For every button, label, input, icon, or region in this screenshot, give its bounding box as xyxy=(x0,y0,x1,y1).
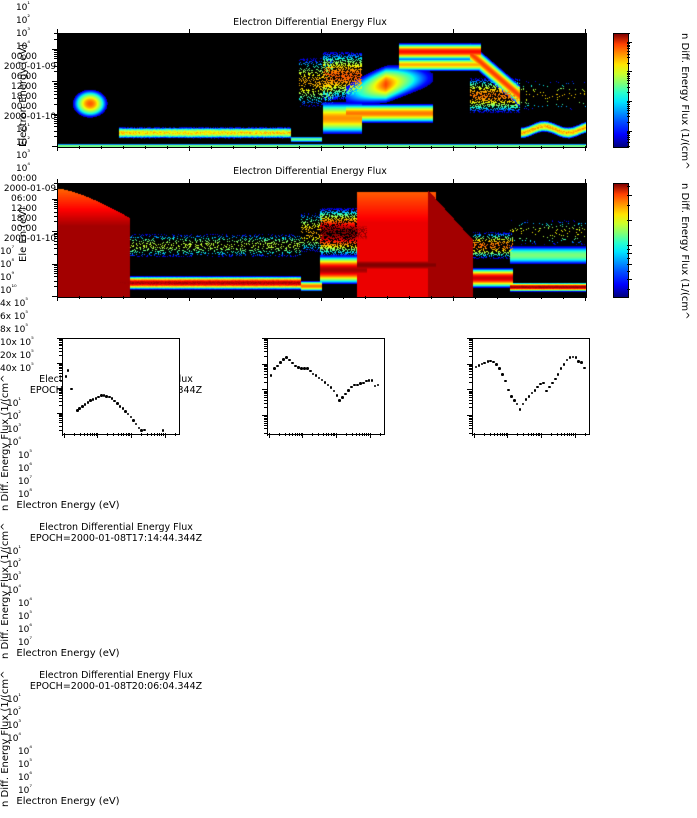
spectrum-3-xminor xyxy=(528,433,529,436)
panel2-cbar-minor xyxy=(627,253,630,254)
panel1-yminor xyxy=(54,123,57,124)
spectrum-2-yminor xyxy=(264,365,267,366)
data-point xyxy=(291,362,294,365)
spectrum-1-yminor xyxy=(59,415,62,416)
spectrum-1-xminor xyxy=(87,433,88,436)
panel1-xminor xyxy=(321,146,322,149)
spectrum-2-xminor xyxy=(368,433,369,436)
panel1-cbar-minor xyxy=(627,102,630,103)
panel1-cbar-minor xyxy=(627,48,630,49)
spectrum-3-yminor xyxy=(469,400,472,401)
panel1-yminor xyxy=(54,54,57,55)
panel2-xminor xyxy=(541,296,542,299)
spectrum-3-yminor xyxy=(469,374,472,375)
spectrum-3-yminor xyxy=(469,371,472,372)
data-point xyxy=(583,367,586,370)
panel2-yminor xyxy=(54,189,57,190)
panel1-cbar-minor xyxy=(627,92,630,93)
panel2-ylabel: Ele En (eV) xyxy=(18,207,29,262)
data-point xyxy=(495,363,498,366)
panel2-cbar-minor xyxy=(627,186,630,187)
spectrum-1-yminor xyxy=(59,389,62,390)
data-point xyxy=(270,374,273,377)
panel2-yminor xyxy=(54,216,57,217)
spectrum-2-title: Electron Differential Energy Flux xyxy=(0,522,232,533)
panel1-cbar-minor xyxy=(627,78,630,79)
spectrum-2-xminor xyxy=(323,433,324,436)
panel2-xminor xyxy=(233,296,234,299)
spectrum-3-xtick xyxy=(541,433,542,438)
panel1-cbar-minor xyxy=(627,106,630,107)
spectrum-3-xminor xyxy=(517,433,518,436)
spectrum-1-yminor xyxy=(59,339,62,340)
panel1-yminor xyxy=(54,58,57,59)
panel2-xminor xyxy=(409,296,410,299)
spectrum-3-yminor xyxy=(469,377,472,378)
panel1-cbar-minor xyxy=(627,122,630,123)
spectrum-2-yminor xyxy=(264,393,267,394)
spectrum-2-yminor xyxy=(264,395,267,396)
data-point xyxy=(519,408,522,411)
panel1-xminor xyxy=(123,146,124,149)
spectrum-1-yminor xyxy=(59,392,62,393)
panel2-xminor xyxy=(255,296,256,299)
spectrum-2-yminor xyxy=(264,416,267,417)
panel1-yminor xyxy=(54,117,57,118)
data-point xyxy=(135,423,138,426)
data-point xyxy=(560,367,563,370)
panel1-colorbar-label: n Diff. Energy Flux (1/(cm^ xyxy=(679,33,690,170)
data-point xyxy=(513,399,516,402)
spectrum-2-plot-area[interactable] xyxy=(267,338,385,435)
spectrum-1-xminor xyxy=(151,433,152,436)
spectrum-2-xminor xyxy=(346,433,347,436)
panel1-xminor xyxy=(255,146,256,149)
panel2-cbar-minor xyxy=(627,245,630,246)
spectrum-1-xminor xyxy=(154,433,155,436)
panel1-xminor xyxy=(585,146,586,149)
panel1-cbar-minor xyxy=(627,76,630,77)
spectrum-2-xminor xyxy=(328,433,329,436)
data-point xyxy=(330,386,333,389)
spectrum-1-xminor xyxy=(126,433,127,436)
spectrum-2-yminor xyxy=(264,351,267,352)
spectrum-3-yminor xyxy=(469,342,472,343)
data-point xyxy=(504,380,507,383)
panel1-xminor xyxy=(167,146,168,149)
panel1-xminor xyxy=(211,146,212,149)
data-point xyxy=(132,419,135,422)
panel2-xtick-top xyxy=(189,179,190,183)
data-point xyxy=(318,377,321,380)
panel1-cbar-minor xyxy=(627,108,630,109)
data-point xyxy=(548,386,551,389)
panel1-cbar-minor xyxy=(627,57,630,58)
spectrum-3-xminor xyxy=(490,433,491,436)
panel2-cbar-minor xyxy=(627,249,630,250)
spectrum-3-xminor xyxy=(494,433,495,436)
spectrum-1-xminor xyxy=(159,433,160,436)
spectrum-2-xminor xyxy=(326,433,327,436)
panel1-cbar-minor xyxy=(627,45,630,46)
spectrum-2-yminor xyxy=(264,369,267,370)
spectrum-1-yminor xyxy=(59,368,62,369)
spectrum-2-xminor xyxy=(267,433,268,436)
spectrum-1-yminor xyxy=(59,426,62,427)
data-point xyxy=(563,363,566,366)
panel2-xtick-top xyxy=(585,179,586,183)
spectrum-1-yminor xyxy=(59,345,62,346)
panel1-cbar-minor xyxy=(627,104,630,105)
spectrum-2-xminor xyxy=(285,433,286,436)
spectrum-2-yminor xyxy=(264,418,267,419)
panel2-xminor xyxy=(585,296,586,299)
panel1-yminor xyxy=(54,62,57,63)
panel2-xminor xyxy=(343,296,344,299)
spectrum-3-yminor xyxy=(469,369,472,370)
panel2-yminor xyxy=(54,233,57,234)
spectrum-1-xminor xyxy=(107,433,108,436)
data-point xyxy=(475,366,478,369)
spectrum-3-yminor xyxy=(469,346,472,347)
panel1-xtick-top xyxy=(321,29,322,33)
panel2-title: Electron Differential Energy Flux xyxy=(0,166,620,177)
spectrum-1-xminor xyxy=(92,433,93,436)
spectrum-2-yminor xyxy=(264,340,267,341)
panel2-xminor xyxy=(365,296,366,299)
spectrum-1-xminor xyxy=(147,433,148,436)
spectrum-1-xminor xyxy=(90,433,91,436)
spectrum-1-yminor xyxy=(59,395,62,396)
data-point xyxy=(116,402,119,405)
spectrum-3-yminor xyxy=(469,395,472,396)
spectrum-2-xtick xyxy=(336,433,337,438)
spectrum-3-yminor xyxy=(469,356,472,357)
spectrum-3-yminor xyxy=(469,425,472,426)
panel2-xminor xyxy=(563,296,564,299)
panel1-yminor xyxy=(54,126,57,127)
spectrum-3-title: Electron Differential Energy Flux xyxy=(0,670,232,681)
spectrum-3-xlabel: Electron Energy (eV) xyxy=(0,796,136,807)
panel2-yminor xyxy=(54,244,57,245)
spectrum-2-yminor xyxy=(264,403,267,404)
data-point xyxy=(321,379,324,382)
panel1-yminor xyxy=(54,121,57,122)
panel1-cbar-minor xyxy=(627,43,630,44)
data-point xyxy=(545,390,548,393)
data-point xyxy=(542,382,545,385)
spectrum-3-yminor xyxy=(469,397,472,398)
spectrum-3-yminor xyxy=(469,421,472,422)
panel2-yminor xyxy=(54,208,57,209)
panel2-xminor xyxy=(431,296,432,299)
spectrum-1-yminor xyxy=(59,370,62,371)
panel1-yminor xyxy=(54,56,57,57)
panel2-yminor xyxy=(54,202,57,203)
panel1-cbar-minor xyxy=(627,146,630,147)
spectrum-2-yminor xyxy=(264,419,267,420)
spectrum-3-xminor xyxy=(564,433,565,436)
panel1-cbar-minor xyxy=(627,63,630,64)
panel2-yminor xyxy=(54,236,57,237)
spectrum-1-xminor xyxy=(129,433,130,436)
spectrum-2-xlabel: Electron Energy (eV) xyxy=(0,648,136,659)
spectrum-1-xminor xyxy=(96,433,97,436)
panel2-xtick-top xyxy=(57,179,58,183)
data-point xyxy=(569,356,572,359)
panel2-xminor xyxy=(211,296,212,299)
panel1-xminor xyxy=(299,146,300,149)
spectrum-2-yminor xyxy=(264,377,267,378)
spectrum-3-yminor xyxy=(469,340,472,341)
data-point xyxy=(84,403,87,406)
spectrum-1-xtick xyxy=(131,433,132,438)
panel1-cbar-minor xyxy=(627,73,630,74)
panel2-yminor xyxy=(54,234,57,235)
data-point xyxy=(127,413,130,416)
spectrum-3-yminor xyxy=(469,428,472,429)
spectrum-3-xminor xyxy=(523,433,524,436)
panel1-xtick-top xyxy=(585,29,586,33)
panel1-xtick-top xyxy=(189,29,190,33)
panel2-yminor xyxy=(54,269,57,270)
panel1-xminor xyxy=(475,146,476,149)
panel1-cbar-minor xyxy=(627,74,630,75)
data-point xyxy=(551,382,554,385)
spectrum-3-xminor xyxy=(551,433,552,436)
spectrum-3-yminor xyxy=(469,392,472,393)
panel2-xminor xyxy=(299,296,300,299)
panel2-yminor xyxy=(54,241,57,242)
panel1-cbar-minor xyxy=(627,137,630,138)
panel2-yminor xyxy=(54,276,57,277)
data-point xyxy=(279,361,282,364)
panel2-yminor xyxy=(54,273,57,274)
spectrum-2-xminor xyxy=(289,433,290,436)
data-point xyxy=(327,384,330,387)
spectrum-3-yminor xyxy=(469,423,472,424)
spectrum-2-xtick xyxy=(269,433,270,438)
spectrum-1-yminor xyxy=(59,418,62,419)
spectrum-3-xminor xyxy=(472,433,473,436)
panel1-xminor xyxy=(431,146,432,149)
spectrum-2-yminor xyxy=(264,421,267,422)
spectrum-1-xminor xyxy=(121,433,122,436)
panel2-xminor xyxy=(167,296,168,299)
spectrum-2-yminor xyxy=(264,433,267,434)
spectrum-3-ylabel: n Diff. Energy Flux (1/(cm^ xyxy=(0,110,11,807)
spectrum-1-yminor xyxy=(59,376,62,377)
data-point xyxy=(525,398,528,401)
panel1-yminor xyxy=(54,86,57,87)
panel2-xminor xyxy=(453,296,454,299)
panel1-cbar-minor xyxy=(627,46,630,47)
panel2-xminor xyxy=(387,296,388,299)
spectrum-2-xminor xyxy=(380,433,381,436)
panel2-xminor xyxy=(79,296,80,299)
spectrum-3-yminor xyxy=(469,339,472,340)
panel1-yminor xyxy=(54,115,57,116)
panel1-cbar-minor xyxy=(627,54,630,55)
data-point xyxy=(333,390,336,393)
spectrum-1-yminor xyxy=(59,416,62,417)
spectrum-3-yminor xyxy=(469,416,472,417)
spectrum-2-yminor xyxy=(264,428,267,429)
spectrum-2-xminor xyxy=(297,433,298,436)
panel1-yminor xyxy=(54,104,57,105)
spectrum-2-xminor xyxy=(301,433,302,436)
data-point xyxy=(522,403,525,406)
spectrum-3-plot-area[interactable] xyxy=(472,338,590,435)
panel2-cbar-minor xyxy=(627,279,630,280)
panel1-xminor xyxy=(79,146,80,149)
spectrum-3-xminor xyxy=(561,433,562,436)
spectrum-1-yminor xyxy=(59,355,62,356)
panel1-cbar-minor xyxy=(627,87,630,88)
data-point xyxy=(341,396,344,399)
spectrum-3-xminor xyxy=(567,433,568,436)
panel2-xminor xyxy=(145,296,146,299)
spectrum-2-yminor xyxy=(264,356,267,357)
panel2-yminor xyxy=(54,204,57,205)
data-point xyxy=(580,361,583,364)
spectrum-2-yminor xyxy=(264,371,267,372)
spectrum-2-yminor xyxy=(264,339,267,340)
panel2-yminor xyxy=(54,212,57,213)
spectrum-1-yminor xyxy=(59,420,62,421)
panel1-cbar-minor xyxy=(627,113,630,114)
panel1-yminor xyxy=(54,91,57,92)
panel2-xtick-top xyxy=(321,179,322,183)
spectrum-1-xminor xyxy=(141,433,142,436)
spectrum-1-xminor xyxy=(123,433,124,436)
spectrum-2-xminor xyxy=(334,433,335,436)
panel1-yminor xyxy=(54,66,57,67)
panel1-xtick-top xyxy=(453,29,454,33)
spectrum-2-epoch: EPOCH=2000-01-08T17:14:44.344Z xyxy=(0,533,232,544)
panel1-xminor xyxy=(519,146,520,149)
spectrum-3-xminor xyxy=(539,433,540,436)
data-point xyxy=(371,379,374,382)
spectrum-2-xminor xyxy=(352,433,353,436)
panel1-yminor xyxy=(54,119,57,120)
panel2-cbar-ticklabel: 8x 10⁵ xyxy=(0,322,697,335)
spectrum-3-yminor xyxy=(469,418,472,419)
panel2-yminor xyxy=(54,254,57,255)
spectrum-3-xminor xyxy=(497,433,498,436)
data-point xyxy=(324,381,327,384)
spectrum-3-yminor xyxy=(469,348,472,349)
spectrum-2-yminor xyxy=(264,346,267,347)
spectrum-1-yminor xyxy=(59,342,62,343)
panel1-title: Electron Differential Energy Flux xyxy=(0,17,620,28)
spectrum-1-xminor xyxy=(118,433,119,436)
data-point xyxy=(566,359,569,362)
data-point xyxy=(315,374,318,377)
spectrum-2-yminor xyxy=(264,342,267,343)
spectrum-2-xminor xyxy=(356,433,357,436)
panel1-xminor xyxy=(233,146,234,149)
spectrum-2-xminor xyxy=(292,433,293,436)
panel2-cbar-minor xyxy=(627,271,630,272)
spectrum-3-xminor xyxy=(500,433,501,436)
panel1-yminor xyxy=(54,131,57,132)
panel1-yminor xyxy=(54,50,57,51)
spectrum-2-xtick xyxy=(302,433,303,438)
data-point xyxy=(572,356,575,359)
spectrum-1-xminor xyxy=(113,433,114,436)
panel1-yminor xyxy=(54,88,57,89)
data-point xyxy=(531,392,534,395)
panel1-xtick-top xyxy=(57,29,58,33)
spectrum-2-xminor xyxy=(279,433,280,436)
spectrum-2-yminor xyxy=(264,368,267,369)
spectrum-1-yminor xyxy=(59,364,62,365)
panel2-plot-area[interactable] xyxy=(57,183,587,298)
spectrum-3-xminor xyxy=(569,433,570,436)
data-point xyxy=(65,375,68,378)
data-point xyxy=(70,388,73,391)
spectrum-1-xtick xyxy=(165,433,166,438)
spectrum-3-yminor xyxy=(469,433,472,434)
spectrum-1-xminor xyxy=(62,433,63,436)
data-point xyxy=(288,359,291,362)
panel2-cbar-minor xyxy=(627,264,630,265)
spectrum-2-yminor xyxy=(264,374,267,375)
spectrum-1-yminor xyxy=(59,390,62,391)
spectrum-1-plot-area[interactable] xyxy=(62,338,180,435)
spectrum-3-xminor xyxy=(585,433,586,436)
spectrum-2-yminor xyxy=(264,407,267,408)
spectrum-2-yminor xyxy=(264,344,267,345)
spectrum-2-yminor xyxy=(264,397,267,398)
spectrum-3-xminor xyxy=(557,433,558,436)
spectrum-2-xminor xyxy=(359,433,360,436)
spectrum-3-yminor xyxy=(469,393,472,394)
spectrum-2-yminor xyxy=(264,392,267,393)
spectrum-3-yminor xyxy=(469,407,472,408)
panel1-ylabel: Electron Energy (eV) xyxy=(18,44,29,147)
panel2-colorbar-label: n Diff. Energy Flux (1/(cm^ xyxy=(679,183,690,320)
panel1-xminor xyxy=(563,146,564,149)
panel1-xminor xyxy=(189,146,190,149)
data-point xyxy=(362,382,365,385)
panel1-cbar-minor xyxy=(627,33,630,34)
data-point xyxy=(67,369,70,372)
spectrum-1-yminor xyxy=(59,367,62,368)
panel1-xminor xyxy=(453,146,454,149)
panel1-yminor xyxy=(54,136,57,137)
panel1-cbar-minor xyxy=(627,132,630,133)
data-point xyxy=(483,362,486,365)
panel1-cbar-minor xyxy=(627,135,630,136)
spectrum-1-xminor xyxy=(175,433,176,436)
panel1-cbar-minor xyxy=(627,142,630,143)
spectrum-2-xminor xyxy=(362,433,363,436)
spectrum-3-yminor xyxy=(469,391,472,392)
panel2-cbar-minor xyxy=(627,195,630,196)
data-point xyxy=(516,403,519,406)
panel1-xminor xyxy=(343,146,344,149)
panel2-yminor xyxy=(54,265,57,266)
spectrum-2-xminor xyxy=(318,433,319,436)
spectrum-3-yminor xyxy=(469,382,472,383)
panel1-plot-area[interactable] xyxy=(57,33,587,148)
panel2-cbar-ticklabel: 6x 10⁵ xyxy=(0,309,697,322)
data-point xyxy=(338,399,341,402)
spectrum-3-xminor xyxy=(573,433,574,436)
data-point xyxy=(507,389,510,392)
